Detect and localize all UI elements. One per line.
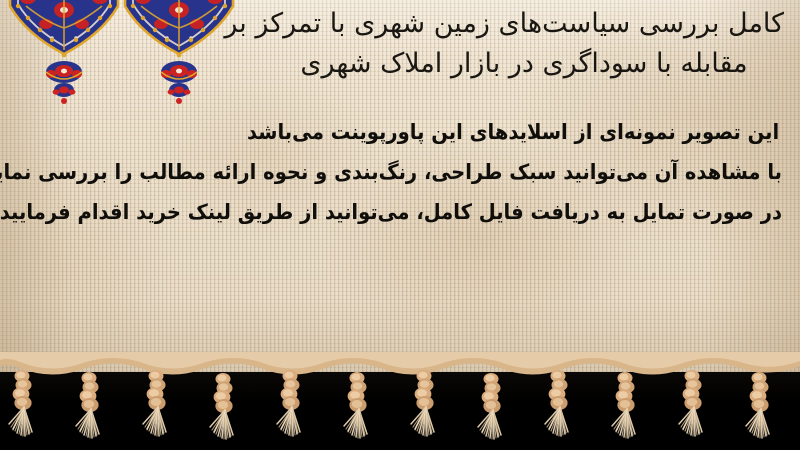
slide-title: کامل بررسی سیاست‌های زمین شهری با تمرکز … bbox=[264, 4, 784, 84]
title-line-1: کامل بررسی سیاست‌های زمین شهری با تمرکز … bbox=[264, 4, 784, 44]
medallion-pendant-small bbox=[53, 83, 76, 97]
medallion-terminal-dot bbox=[61, 98, 67, 104]
slide-body: این تصویر نمونه‌ای از اسلایدهای این پاور… bbox=[12, 112, 782, 232]
medallion-pendant-large bbox=[46, 61, 82, 83]
persian-medallion-icon bbox=[123, 0, 235, 104]
body-line-3: در صورت تمایل به دریافت فایل کامل، می‌تو… bbox=[66, 192, 782, 232]
medallion-pendant-large bbox=[161, 61, 197, 83]
medallion-pendant-small bbox=[168, 83, 191, 97]
body-line-2: با مشاهده آن می‌توانید سبک طراحی، رنگ‌بن… bbox=[66, 152, 782, 192]
title-line-2: مقابله با سوداگری در بازار املاک شهری bbox=[264, 44, 784, 84]
body-line-1: این تصویر نمونه‌ای از اسلایدهای این پاور… bbox=[66, 112, 782, 152]
slide-canvas: کامل بررسی سیاست‌های زمین شهری با تمرکز … bbox=[0, 0, 800, 450]
persian-medallion-motif-left bbox=[8, 0, 120, 108]
persian-medallion-icon bbox=[8, 0, 120, 104]
persian-medallion-motif-right bbox=[123, 0, 235, 108]
bottom-black-band bbox=[0, 372, 800, 450]
medallion-terminal-dot bbox=[176, 98, 182, 104]
